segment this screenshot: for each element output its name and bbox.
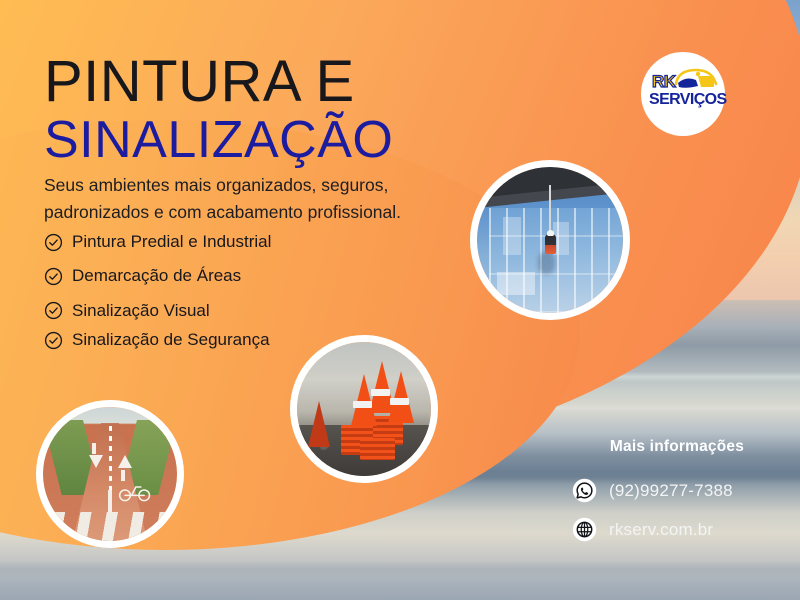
cone-reflective-band <box>353 401 372 408</box>
list-item-label: Sinalização de Segurança <box>72 330 270 350</box>
headline-line-2: SINALIZAÇÃO <box>44 113 564 168</box>
lane-arrow-stem <box>121 470 125 481</box>
list-item: Sinalização Visual <box>44 301 374 321</box>
list-item-label: Sinalização Visual <box>72 301 210 321</box>
glass-panel <box>497 272 535 295</box>
cone-stack <box>360 438 395 459</box>
promotional-banner: PINTURA E SINALIZAÇÃO Seus ambientes mai… <box>0 0 800 600</box>
glass-panel <box>503 217 521 255</box>
contact-title: Mais informações <box>572 438 782 456</box>
photo-clip <box>43 407 177 541</box>
rope-access-worker <box>545 234 556 254</box>
contact-block: Mais informações (92)99277-7388 rkserv.c… <box>572 438 782 556</box>
headline: PINTURA E SINALIZAÇÃO <box>44 52 564 168</box>
traffic-cone <box>308 401 330 447</box>
whatsapp-icon <box>572 478 597 503</box>
logo-text-rk: RK <box>652 72 676 92</box>
sea-streak <box>0 560 800 578</box>
photo-clip <box>297 342 431 476</box>
check-circle-icon <box>44 331 63 350</box>
cones-scene <box>297 342 431 476</box>
check-circle-icon <box>44 301 63 320</box>
paint-roller-icon <box>674 68 718 92</box>
list-item: Demarcação de Áreas <box>44 266 374 286</box>
logo-text-servicos: SERVIÇOS <box>649 91 727 109</box>
check-circle-icon <box>44 233 63 252</box>
building-facade-art <box>477 167 623 313</box>
bicycle-symbol-icon <box>118 482 152 502</box>
crosswalk-markings <box>54 512 167 541</box>
headline-line-1: PINTURA E <box>44 52 564 111</box>
feature-list: Pintura Predial e Industrial Demarcação … <box>44 232 374 351</box>
photo-building-rope-access <box>470 160 630 320</box>
lane-dashed-line <box>109 426 112 496</box>
contact-website-text: rkserv.com.br <box>609 520 713 540</box>
lane-arrow-up <box>118 455 132 468</box>
list-item-label: Demarcação de Áreas <box>72 266 241 286</box>
cone-reflective-band <box>390 398 409 405</box>
check-circle-icon <box>44 267 63 286</box>
photo-bike-lane <box>36 400 184 548</box>
contact-row-whatsapp[interactable]: (92)99277-7388 <box>572 478 782 503</box>
worker-helmet <box>547 230 554 236</box>
worker-shadow <box>538 252 555 274</box>
lane-arrow-stem <box>92 443 96 454</box>
photo-traffic-cones <box>290 335 438 483</box>
contact-row-website[interactable]: rkserv.com.br <box>572 517 782 542</box>
lane-arrow-down <box>89 455 103 468</box>
cone-reflective-band <box>371 389 390 396</box>
list-item: Pintura Predial e Industrial <box>44 232 374 252</box>
subtitle: Seus ambientes mais organizados, seguros… <box>44 172 454 226</box>
bike-lane-scene <box>43 407 177 541</box>
contact-phone-text: (92)99277-7388 <box>609 481 733 501</box>
list-item-label: Pintura Predial e Industrial <box>72 232 271 252</box>
globe-icon <box>572 517 597 542</box>
rk-servicos-logo[interactable]: RK SERVIÇOS <box>641 52 725 136</box>
photo-clip <box>477 167 623 313</box>
logo-artwork: RK SERVIÇOS <box>648 70 718 118</box>
